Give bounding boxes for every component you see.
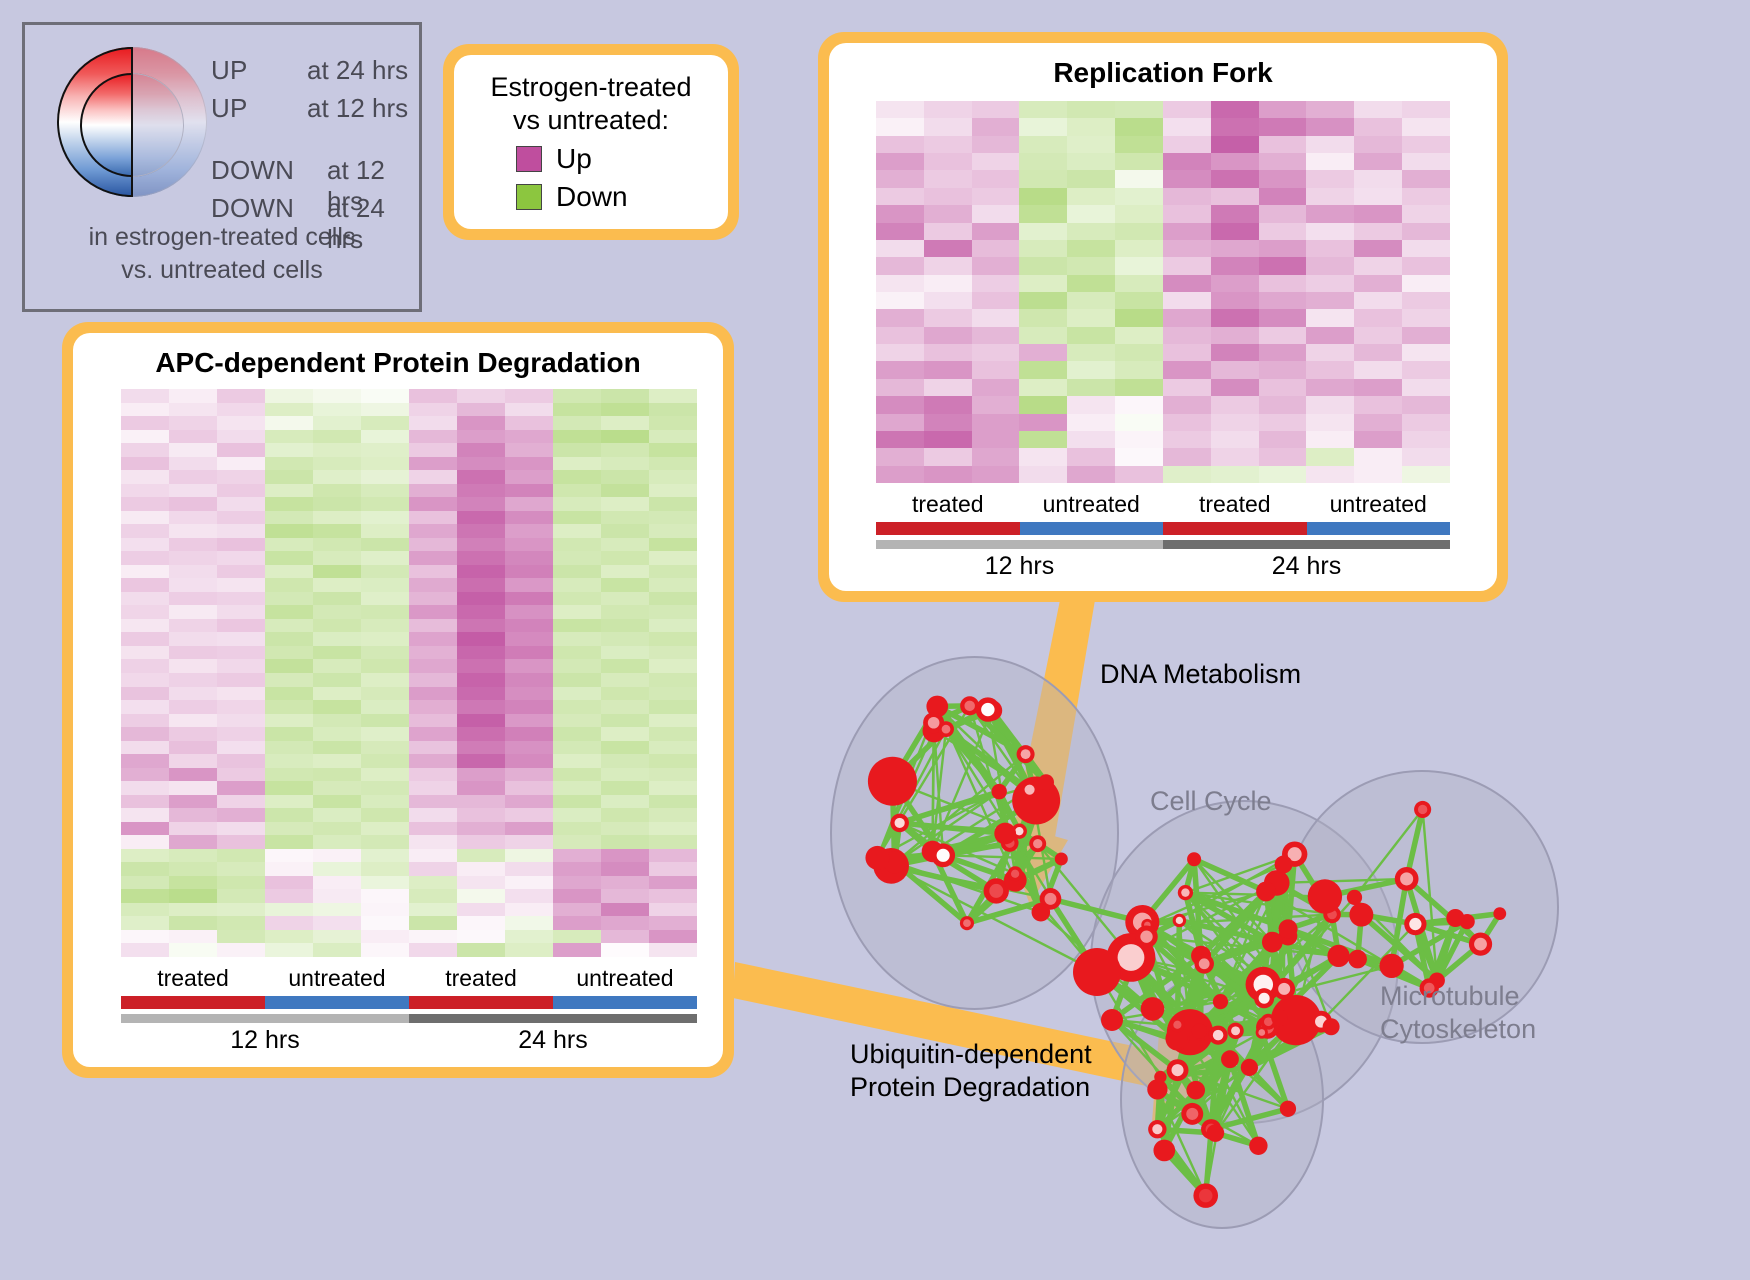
heatmap-cell <box>1115 431 1163 448</box>
network-node[interactable] <box>1029 835 1046 852</box>
heatmap-cell <box>1259 240 1307 257</box>
heatmap-cell <box>361 714 409 728</box>
network-node-outer <box>1271 1009 1288 1026</box>
heatmap-cell <box>217 700 265 714</box>
network-node[interactable] <box>1256 1026 1268 1038</box>
heatmap-cell <box>313 497 361 511</box>
heatmap-cell <box>1163 431 1211 448</box>
heatmap-cell <box>505 700 553 714</box>
heatmap-cell <box>409 889 457 903</box>
heatmap-cell <box>313 538 361 552</box>
network-node-outer <box>1327 945 1349 967</box>
heatmap-cell <box>1259 309 1307 326</box>
legend-state-up-24: UP <box>211 55 248 86</box>
heatmap-cell <box>1402 396 1450 413</box>
heatmap-cell <box>1306 309 1354 326</box>
heatmap-cell <box>409 632 457 646</box>
heatmap-cell <box>553 700 601 714</box>
heatmap-cell <box>601 511 649 525</box>
heatmap-cell <box>217 781 265 795</box>
heatmap-cell <box>649 619 697 633</box>
heatmap-cell <box>409 876 457 890</box>
heatmap-cell <box>313 930 361 944</box>
heatmap-cell <box>121 889 169 903</box>
network-node[interactable] <box>1192 1023 1207 1038</box>
group-color-bar <box>1020 522 1164 535</box>
network-node[interactable] <box>1275 856 1293 874</box>
heatmap-cell <box>1019 344 1067 361</box>
heatmap-cell <box>121 457 169 471</box>
heatmap-cell <box>505 673 553 687</box>
heatmap-cell <box>553 822 601 836</box>
heatmap-cell <box>601 646 649 660</box>
network-node[interactable] <box>1349 903 1373 927</box>
network-node[interactable] <box>1327 945 1349 967</box>
heatmap-cell <box>505 862 553 876</box>
network-node[interactable] <box>1170 1017 1185 1032</box>
network-node[interactable] <box>1279 919 1298 938</box>
network-node[interactable] <box>1181 1103 1203 1125</box>
network-node[interactable] <box>1017 745 1035 763</box>
heatmap-cell <box>601 889 649 903</box>
heatmap-cell <box>409 605 457 619</box>
network-node[interactable] <box>1493 907 1506 920</box>
heatmap-cell <box>361 808 409 822</box>
heatmap-cell <box>313 862 361 876</box>
heatmap-cell <box>601 389 649 403</box>
network-node-outer <box>1323 1018 1340 1035</box>
heatmap-cell <box>1259 136 1307 153</box>
heatmap-cell <box>649 457 697 471</box>
heatmap-cell <box>169 659 217 673</box>
heatmap-cell <box>1067 431 1115 448</box>
heatmap-cell <box>313 619 361 633</box>
heatmap-cell <box>924 448 972 465</box>
legend-ring-diagram <box>57 47 207 197</box>
network-node[interactable] <box>976 697 1000 721</box>
heatmap-cell <box>361 565 409 579</box>
heatmap-cell <box>169 781 217 795</box>
network-node[interactable] <box>1249 1137 1267 1155</box>
network-node[interactable] <box>1348 950 1367 969</box>
network-node[interactable] <box>1135 925 1157 947</box>
heatmap-cell <box>121 822 169 836</box>
network-node-inner <box>895 818 905 828</box>
heatmap-cell <box>409 551 457 565</box>
heatmap-cell <box>972 466 1020 483</box>
network-node[interactable] <box>960 916 974 930</box>
network-node[interactable] <box>992 784 1007 799</box>
heatmap-cell <box>121 768 169 782</box>
network-node[interactable] <box>1020 781 1038 799</box>
heatmap-cell <box>1354 448 1402 465</box>
heatmap-cell <box>553 538 601 552</box>
time-color-bar <box>121 1014 409 1023</box>
heatmap-cell <box>169 619 217 633</box>
network-node[interactable] <box>1101 1009 1123 1031</box>
network-node[interactable] <box>1414 801 1431 818</box>
network-node[interactable] <box>1271 1009 1288 1026</box>
cluster-label-microtubule: Microtubule Cytoskeleton <box>1380 980 1536 1046</box>
heatmap-cell <box>361 687 409 701</box>
network-node[interactable] <box>1148 1120 1166 1138</box>
network-node-outer <box>1187 852 1201 866</box>
heatmap-cell <box>1306 257 1354 274</box>
heatmap-cell <box>1354 188 1402 205</box>
heatmap-cell <box>1259 188 1307 205</box>
heatmap-cell <box>505 849 553 863</box>
heatmap-cell <box>649 443 697 457</box>
heatmap-cell <box>169 687 217 701</box>
heatmap-cell <box>1163 466 1211 483</box>
updown-title-line1: Estrogen-treated <box>454 71 728 104</box>
heatmap-cell <box>924 327 972 344</box>
network-node[interactable] <box>865 846 889 870</box>
heatmap-cell <box>409 835 457 849</box>
network-node[interactable] <box>931 843 955 867</box>
network-node-outer <box>1493 907 1506 920</box>
heatmap-cell <box>265 876 313 890</box>
heatmap-cell <box>169 903 217 917</box>
heatmap-cell <box>924 414 972 431</box>
heatmap-cell <box>361 511 409 525</box>
heatmap-cell <box>457 943 505 957</box>
network-node[interactable] <box>1241 1059 1258 1076</box>
heatmap-cell <box>121 403 169 417</box>
heatmap-cell <box>876 396 924 413</box>
network-node[interactable] <box>1404 913 1426 935</box>
network-node-inner <box>1025 785 1035 795</box>
heatmap-cell <box>1354 257 1402 274</box>
heatmap-cell <box>1019 327 1067 344</box>
heatmap-cell <box>649 714 697 728</box>
group-label-treated: treated <box>1163 491 1307 518</box>
network-node[interactable] <box>1186 1081 1205 1100</box>
heatmap-cell <box>505 822 553 836</box>
heatmap-cell <box>217 862 265 876</box>
heatmap-cell <box>1115 170 1163 187</box>
heatmap-cell <box>361 524 409 538</box>
heatmap-cell <box>553 849 601 863</box>
network-node[interactable] <box>1395 867 1419 891</box>
heatmap-cell <box>217 457 265 471</box>
heatmap-cell <box>876 292 924 309</box>
network-node-outer <box>865 846 889 870</box>
heatmap-cell <box>409 714 457 728</box>
network-node[interactable] <box>1073 948 1121 996</box>
time-color-bar-row <box>121 1014 697 1023</box>
network-node[interactable] <box>1469 933 1492 956</box>
heatmap-cell <box>601 930 649 944</box>
heatmap-cell <box>601 943 649 957</box>
heatmap-cell <box>217 741 265 755</box>
heatmap-cell <box>1163 448 1211 465</box>
heatmap-cell <box>505 511 553 525</box>
heatmap-cell <box>1115 223 1163 240</box>
heatmap-cell <box>217 876 265 890</box>
heatmap-cell <box>409 497 457 511</box>
heatmap-cell <box>1067 136 1115 153</box>
heatmap-cell <box>361 403 409 417</box>
network-node[interactable] <box>938 721 954 737</box>
heatmap-cell <box>121 862 169 876</box>
heatmap-cell <box>409 538 457 552</box>
heatmap-cell <box>1354 396 1402 413</box>
network-node[interactable] <box>890 814 909 833</box>
heatmap-cell <box>1211 379 1259 396</box>
heatmap-cell <box>217 524 265 538</box>
heatmap-cell <box>1402 327 1450 344</box>
network-node[interactable] <box>1178 885 1193 900</box>
heatmap-cell <box>1115 292 1163 309</box>
heatmap-cell <box>1067 292 1115 309</box>
heatmap-cell <box>1019 223 1067 240</box>
heatmap-cell <box>1402 101 1450 118</box>
heatmap-cell <box>505 457 553 471</box>
heatmap-cell <box>217 619 265 633</box>
heatmap-cell <box>1019 309 1067 326</box>
heatmap-cell <box>505 578 553 592</box>
heatmap-cell <box>409 389 457 403</box>
time-label-row: 12 hrs24 hrs <box>876 549 1450 581</box>
heatmap-cell <box>457 903 505 917</box>
heatmap-cell <box>121 565 169 579</box>
network-node[interactable] <box>1446 909 1464 927</box>
heatmap-cell <box>553 497 601 511</box>
heatmap-cell <box>361 916 409 930</box>
heatmap-cell <box>876 344 924 361</box>
network-node[interactable] <box>1167 1059 1189 1081</box>
heatmap-cell <box>265 768 313 782</box>
heatmap-cell <box>313 781 361 795</box>
network-node[interactable] <box>1323 1018 1340 1035</box>
heatmap-cell <box>409 903 457 917</box>
heatmap-cell <box>121 687 169 701</box>
network-node[interactable] <box>1008 866 1023 881</box>
updown-legend-inner: Estrogen-treated vs untreated: Up Down <box>454 55 728 229</box>
heatmap-cell <box>313 835 361 849</box>
heatmap-cell <box>1306 292 1354 309</box>
heatmap-cell <box>972 275 1020 292</box>
heatmap-cell <box>409 781 457 795</box>
heatmap-cell <box>1306 379 1354 396</box>
heatmap-cell <box>1115 361 1163 378</box>
heatmap-cell <box>601 578 649 592</box>
heatmap-cell <box>1019 361 1067 378</box>
heatmap-cell <box>313 808 361 822</box>
heatmap-cell <box>876 448 924 465</box>
network-node[interactable] <box>1213 994 1228 1009</box>
time-label-24-hrs: 24 hrs <box>1163 549 1450 581</box>
heatmap-cell <box>1067 170 1115 187</box>
heatmap-cell <box>601 741 649 755</box>
heatmap-cell <box>361 443 409 457</box>
heatmap-cell <box>265 605 313 619</box>
heatmap-cell <box>1211 466 1259 483</box>
heatmap-cell <box>313 389 361 403</box>
network-node[interactable] <box>1273 978 1295 1000</box>
heatmap-cell <box>505 781 553 795</box>
network-node-outer <box>1256 882 1276 902</box>
heatmap-cell <box>313 903 361 917</box>
heatmap-cell <box>1306 240 1354 257</box>
network-node[interactable] <box>1262 932 1283 953</box>
heatmap-cell <box>553 930 601 944</box>
heatmap-cell <box>313 605 361 619</box>
network-node[interactable] <box>1194 954 1214 974</box>
network-node-outer <box>1249 1137 1267 1155</box>
heatmap-cell <box>313 687 361 701</box>
heatmap-cell <box>217 470 265 484</box>
network-node[interactable] <box>1254 988 1274 1008</box>
heatmap-cell <box>601 416 649 430</box>
heatmap-cell <box>409 524 457 538</box>
heatmap-cell <box>169 646 217 660</box>
network-node-outer <box>1275 856 1293 874</box>
heatmap-cell <box>553 916 601 930</box>
heatmap-cell <box>265 416 313 430</box>
heatmap-cell <box>1211 275 1259 292</box>
heatmap-cell <box>649 470 697 484</box>
network-node[interactable] <box>1280 1101 1296 1117</box>
heatmap-cell <box>924 344 972 361</box>
heatmap-cell <box>1211 396 1259 413</box>
legend-state-down-24: DOWN <box>211 193 294 224</box>
heatmap-cell <box>169 511 217 525</box>
heatmap-cell <box>1402 153 1450 170</box>
heatmap-cell <box>121 497 169 511</box>
network-node-outer <box>1348 950 1367 969</box>
network-node[interactable] <box>1308 879 1342 913</box>
heatmap-cell <box>1163 170 1211 187</box>
heatmap-cell <box>1115 396 1163 413</box>
heatmap-cell <box>1402 188 1450 205</box>
heatmap-cell <box>169 443 217 457</box>
heatmap-cell <box>457 578 505 592</box>
heatmap-cell <box>265 822 313 836</box>
heatmap-cell <box>217 687 265 701</box>
heatmap-cell <box>505 389 553 403</box>
heatmap-cell <box>457 700 505 714</box>
network-node[interactable] <box>1227 1023 1243 1039</box>
heatmap-cell <box>1259 292 1307 309</box>
heatmap-cell <box>265 646 313 660</box>
heatmap-cell <box>265 389 313 403</box>
heatmap-cell <box>457 430 505 444</box>
heatmap-cell <box>169 565 217 579</box>
heatmap-cell <box>505 484 553 498</box>
heatmap-cell <box>217 565 265 579</box>
heatmap-cell <box>265 632 313 646</box>
network-node-inner <box>1140 931 1152 943</box>
network-node-outer <box>1073 948 1121 996</box>
heatmap-cell <box>217 484 265 498</box>
network-node[interactable] <box>1038 774 1054 790</box>
network-node[interactable] <box>1154 1071 1166 1083</box>
heatmap-cell <box>121 795 169 809</box>
network-node[interactable] <box>1040 888 1062 910</box>
network-node-outer <box>1221 1050 1239 1068</box>
network-node-inner <box>1173 1021 1181 1029</box>
heatmap-cell <box>601 727 649 741</box>
heatmap-cell <box>1019 431 1067 448</box>
network-node[interactable] <box>1153 1140 1175 1162</box>
heatmap-cell <box>409 930 457 944</box>
heatmap-cell <box>1354 153 1402 170</box>
network-node[interactable] <box>994 823 1016 845</box>
network-node-inner <box>1152 1124 1162 1134</box>
network-node[interactable] <box>1141 997 1165 1021</box>
heatmap-cell <box>601 714 649 728</box>
network-node-inner <box>1199 1189 1213 1203</box>
heatmap-cell <box>217 646 265 660</box>
heatmap-cell <box>457 389 505 403</box>
legend-up-label: Up <box>556 143 592 175</box>
heatmap-cell <box>1019 379 1067 396</box>
heatmap-cell <box>1402 466 1450 483</box>
heatmap-cell <box>265 551 313 565</box>
heatmap-cell <box>876 257 924 274</box>
network-node[interactable] <box>1256 882 1276 902</box>
network-node[interactable] <box>1347 890 1362 905</box>
apc-degradation-heatmap <box>121 389 697 957</box>
heatmap-cell <box>505 430 553 444</box>
network-node[interactable] <box>1173 914 1186 927</box>
network-node[interactable] <box>1209 1026 1228 1045</box>
network-node[interactable] <box>868 757 917 806</box>
network-node[interactable] <box>1187 852 1201 866</box>
network-node-inner <box>942 725 951 734</box>
heatmap-cell <box>1163 240 1211 257</box>
network-node[interactable] <box>1379 954 1403 978</box>
heatmap-cell <box>217 538 265 552</box>
heatmap-cell <box>649 511 697 525</box>
heatmap-cell <box>876 223 924 240</box>
network-node[interactable] <box>1221 1050 1239 1068</box>
heatmap-cell <box>649 727 697 741</box>
heatmap-cell <box>876 136 924 153</box>
heatmap-cell <box>1354 101 1402 118</box>
heatmap-cell <box>601 768 649 782</box>
heatmap-cell <box>1259 170 1307 187</box>
updown-legend-card: Estrogen-treated vs untreated: Up Down <box>443 44 739 240</box>
heatmap-cell <box>1354 240 1402 257</box>
heatmap-cell <box>361 457 409 471</box>
heatmap-cell <box>972 396 1020 413</box>
heatmap-cell <box>1211 170 1259 187</box>
heatmap-cell <box>265 781 313 795</box>
heatmap-cell <box>169 943 217 957</box>
heatmap-cell <box>876 101 924 118</box>
network-node[interactable] <box>1207 1124 1225 1142</box>
network-node[interactable] <box>1193 1183 1218 1208</box>
legend-time-up-12: at 12 hrs <box>307 93 408 124</box>
heatmap-cell <box>1115 205 1163 222</box>
heatmap-cell <box>265 484 313 498</box>
network-node[interactable] <box>1055 852 1068 865</box>
heatmap-cell <box>1067 240 1115 257</box>
heatmap-cell <box>169 849 217 863</box>
heatmap-cell <box>1259 257 1307 274</box>
heatmap-cell <box>169 754 217 768</box>
heatmap-cell <box>121 916 169 930</box>
heatmap-cell <box>1019 118 1067 135</box>
heatmap-cell <box>972 344 1020 361</box>
heatmap-cell <box>1067 396 1115 413</box>
heatmap-cell <box>169 416 217 430</box>
heatmap-cell <box>876 188 924 205</box>
heatmap-cell <box>217 578 265 592</box>
